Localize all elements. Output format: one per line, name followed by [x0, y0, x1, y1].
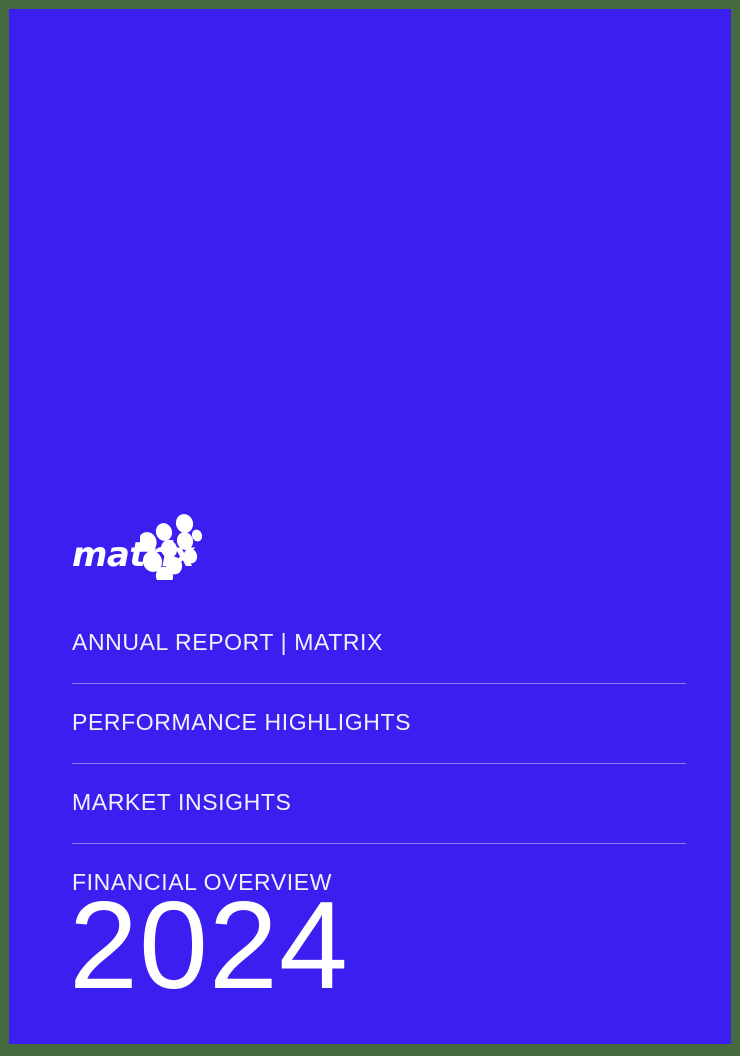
contents-item-label: ANNUAL REPORT | MATRIX [72, 631, 686, 683]
matrix-logo: matrix [72, 514, 202, 580]
contents-item-market-insights: MARKET INSIGHTS [72, 764, 686, 844]
contents-item-performance-highlights: PERFORMANCE HIGHLIGHTS [72, 684, 686, 764]
dot-cluster-icon [140, 514, 202, 580]
report-cover-page: matrix [9, 9, 731, 1044]
contents-item-label: MARKET INSIGHTS [72, 764, 686, 843]
page-canvas: matrix [0, 0, 740, 1056]
contents-list: ANNUAL REPORT | MATRIX PERFORMANCE HIGHL… [72, 631, 686, 894]
report-year: 2024 [69, 884, 349, 1008]
contents-item-annual-report: ANNUAL REPORT | MATRIX [72, 631, 686, 684]
contents-item-label: PERFORMANCE HIGHLIGHTS [72, 684, 686, 763]
